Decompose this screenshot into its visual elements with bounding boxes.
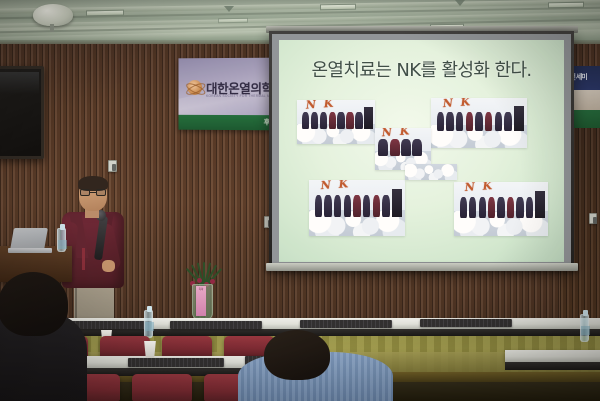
desk-keyboard: [170, 321, 262, 329]
wall-monitor: [0, 66, 44, 159]
presenter-lanyard: [82, 248, 85, 270]
glasses-icon: [80, 189, 106, 196]
ceiling-light: [86, 10, 124, 17]
seat: [132, 374, 192, 401]
photo-dark-bar: [392, 189, 403, 217]
monitor-glare: [0, 72, 39, 94]
laptop-screen: [10, 228, 48, 250]
ceiling-vent-icon: [224, 6, 234, 12]
attendee-head: [264, 330, 330, 380]
society-subtitle: KOREAN SOCIETY FOR THERMAL MEDICINE: [206, 94, 276, 98]
slide-photo-panel: N K: [431, 98, 527, 148]
photo-ground: [405, 164, 457, 180]
wall-outlet: [589, 213, 597, 224]
photo-dark-bar: [514, 106, 525, 131]
seat: [100, 336, 150, 358]
vase-ribbon-text: 축하: [198, 289, 205, 292]
vase-ribbon: 축하: [196, 286, 206, 316]
wall-outlet: [108, 160, 117, 172]
slide-title: 온열치료는 NK를 활성화 한다.: [279, 56, 564, 82]
projection-screen: 온열치료는 NK를 활성화 한다. N K N K N K: [279, 40, 564, 262]
water-bottle: [580, 314, 589, 342]
desk-keyboard: [128, 358, 224, 367]
ceiling-vent-icon: [455, 0, 465, 6]
water-bottle: [57, 228, 66, 252]
ceiling-light: [218, 18, 248, 24]
water-bottle: [144, 310, 153, 338]
slide-photo-panel: N K: [309, 180, 405, 236]
society-banner: 대한온열의학회 KOREAN SOCIETY FOR THERMAL MEDIC…: [178, 58, 276, 131]
society-logo-icon: [187, 80, 202, 95]
desk-keyboard: [300, 320, 392, 328]
seat: [162, 336, 212, 358]
attendee-head: [0, 272, 68, 336]
photo-dark-bar: [364, 107, 373, 129]
slide-photo-panel: N K: [297, 100, 375, 144]
lecture-hall-photo: 대한온열의학회 KOREAN SOCIETY FOR THERMAL MEDIC…: [0, 0, 600, 401]
ceiling-light: [548, 2, 584, 9]
ceiling-speaker-dome: [33, 4, 73, 26]
slide-photo-panel: N K: [454, 182, 548, 236]
slide-photo-strip: [405, 164, 457, 180]
ceiling-light: [320, 4, 356, 11]
nk-annotation: N K: [320, 180, 381, 201]
photo-dark-bar: [535, 191, 545, 218]
desk-row-front: [505, 362, 600, 370]
desk-row: [505, 350, 600, 362]
laptop-keyboard-base: [8, 248, 52, 253]
banner-footer: 후: [178, 115, 276, 130]
screen-bottom-rail: [266, 263, 578, 271]
presenter-hand: [102, 260, 115, 272]
ceiling-speaker-mount: [50, 24, 54, 32]
desk-keyboard: [420, 319, 512, 327]
